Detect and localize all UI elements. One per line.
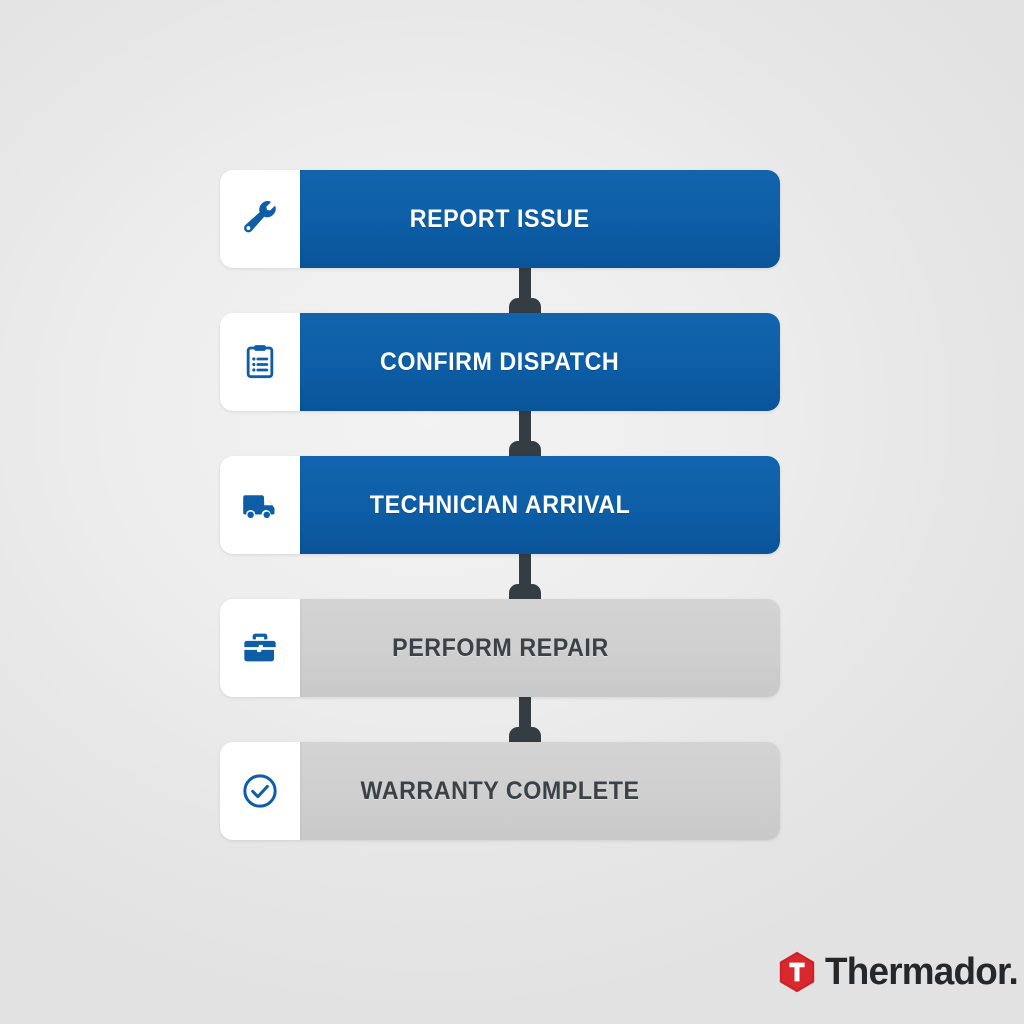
step-icon-panel (220, 313, 300, 411)
thermador-logo: Thermador. (778, 950, 1024, 994)
flow-step-confirm-dispatch[interactable]: CONFIRM DISPATCH (220, 313, 780, 411)
brand-suffix: . (1009, 951, 1018, 993)
connector-step3-step4 (516, 554, 534, 601)
delivery-van-icon (239, 484, 281, 526)
step-label: WARRANTY COMPLETE (360, 777, 639, 806)
step-bar[interactable]: REPORT ISSUE (300, 170, 780, 268)
flow-step-warranty-complete[interactable]: WARRANTY COMPLETE (220, 742, 780, 840)
wrench-icon (240, 199, 280, 239)
connector-step4-step5 (516, 697, 534, 744)
step-icon-panel (220, 170, 300, 268)
thermador-hex-mark-icon (778, 951, 816, 993)
step-bar[interactable]: TECHNICIAN ARRIVAL (300, 456, 780, 554)
clipboard-icon (240, 342, 280, 382)
step-label: CONFIRM DISPATCH (380, 348, 619, 377)
flow-step-perform-repair[interactable]: PERFORM REPAIR (220, 599, 780, 697)
step-label: TECHNICIAN ARRIVAL (370, 491, 631, 520)
step-icon-panel (220, 742, 300, 840)
step-label: REPORT ISSUE (410, 205, 590, 234)
flow-step-report-issue[interactable]: REPORT ISSUE (220, 170, 780, 268)
connector-step2-step3 (516, 411, 534, 458)
diagram-canvas: REPORT ISSUE (0, 0, 1024, 1024)
step-label: PERFORM REPAIR (392, 634, 609, 663)
step-bar[interactable]: CONFIRM DISPATCH (300, 313, 780, 411)
check-circle-icon (240, 771, 280, 811)
flow-step-technician-arrival[interactable]: TECHNICIAN ARRIVAL (220, 456, 780, 554)
brand-name: Thermador (825, 951, 1009, 993)
connector-step1-step2 (516, 268, 534, 315)
warranty-service-flowchart: REPORT ISSUE (220, 170, 780, 840)
step-icon-panel (220, 599, 300, 697)
step-bar[interactable]: PERFORM REPAIR (300, 599, 780, 697)
thermador-wordmark: Thermador. (825, 953, 1018, 991)
step-bar[interactable]: WARRANTY COMPLETE (300, 742, 780, 840)
toolbox-icon (240, 628, 280, 668)
step-icon-panel (220, 456, 300, 554)
